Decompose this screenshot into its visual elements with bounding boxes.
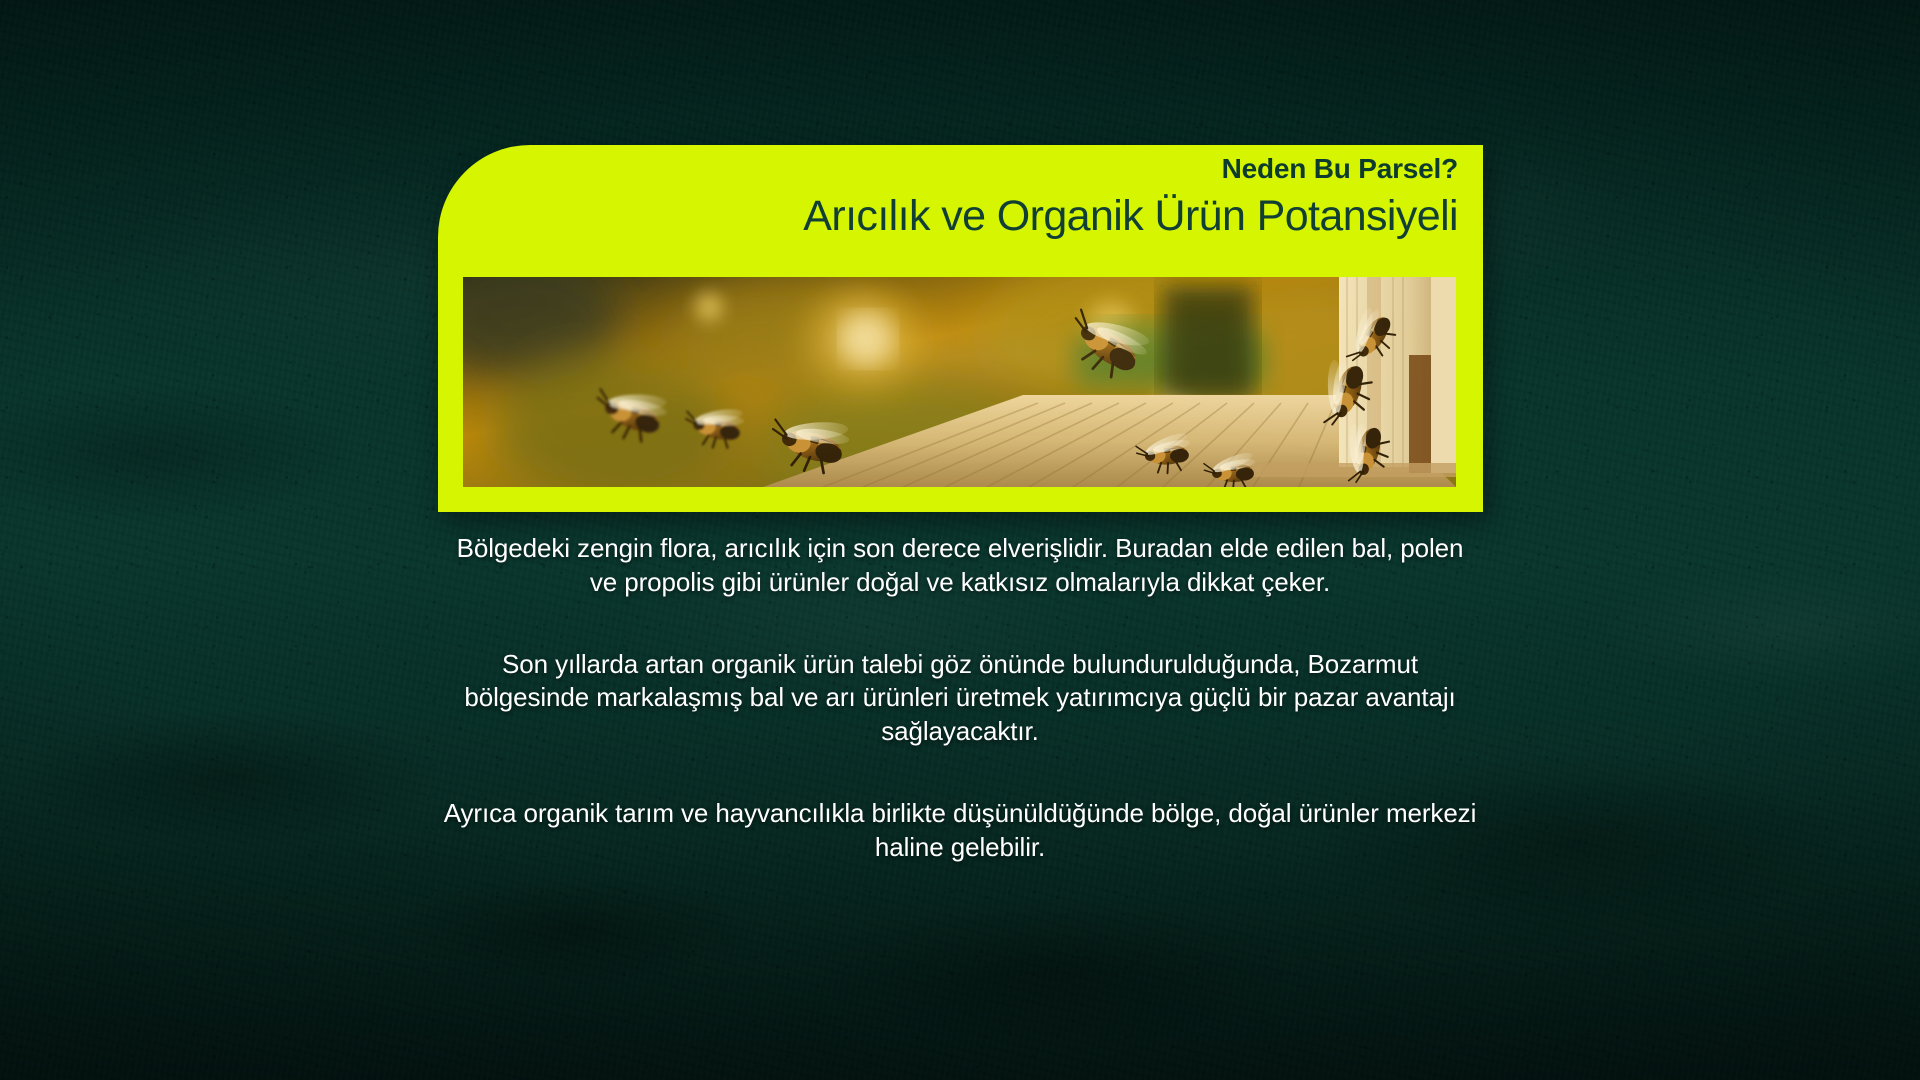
body-paragraph-3: Ayrıca organik tarım ve hayvancılıkla bi…	[440, 797, 1480, 865]
card-heading-group: Neden Bu Parsel? Arıcılık ve Organik Ürü…	[473, 148, 1458, 244]
body-copy: Bölgedeki zengin flora, arıcılık için so…	[440, 532, 1480, 865]
card-headline: Arıcılık ve Organik Ürün Potansiyeli	[473, 190, 1458, 244]
highlight-card: Neden Bu Parsel? Arıcılık ve Organik Ürü…	[438, 145, 1483, 512]
body-paragraph-2: Son yıllarda artan organik ürün talebi g…	[440, 648, 1480, 749]
slide-stage: Neden Bu Parsel? Arıcılık ve Organik Ürü…	[0, 0, 1920, 1080]
card-eyebrow: Neden Bu Parsel?	[473, 148, 1458, 190]
body-paragraph-1: Bölgedeki zengin flora, arıcılık için so…	[440, 532, 1480, 600]
honeybees-flying-to-hive-photo	[463, 277, 1456, 487]
